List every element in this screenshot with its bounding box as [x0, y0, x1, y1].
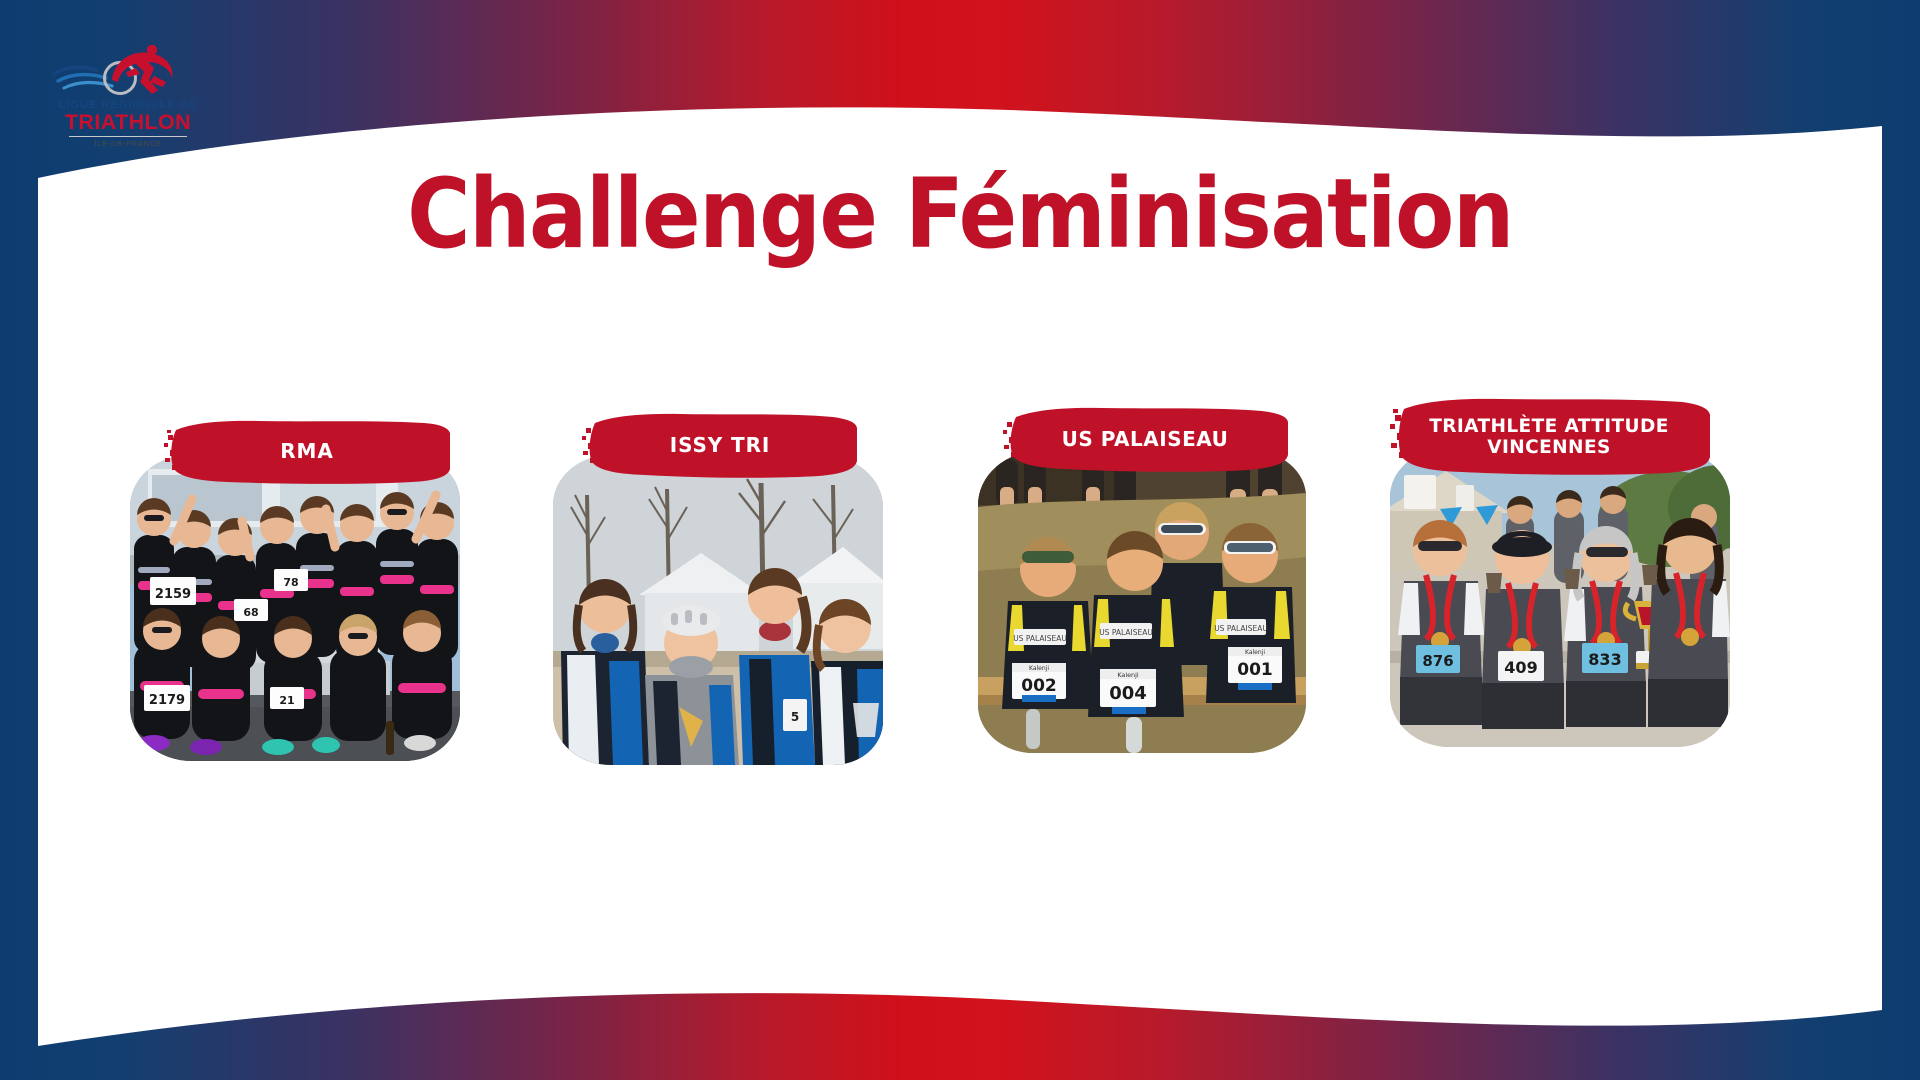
team-photo-triathlete-attitude-vincennes: 876 409 [1390, 449, 1730, 747]
team-name-label: TRIATHLÈTE ATTITUDE VINCENNES [1384, 395, 1714, 479]
team-photo-us-palaiseau: US PALAISEAU 002 Kalenji US PALAISEAU 0 [978, 451, 1306, 753]
wave-and-runner-logo-mark [48, 38, 208, 100]
team-name-banner-rma: RMA [162, 417, 452, 487]
svg-text:2159: 2159 [155, 587, 191, 602]
svg-text:Kalenji: Kalenji [1117, 671, 1139, 679]
team-photo-issy-tri: 5 [553, 455, 883, 765]
team-card-triathlete-attitude-vincennes[interactable]: 876 409 [1390, 401, 1782, 801]
team-name-banner-triathlete-attitude-vincennes: TRIATHLÈTE ATTITUDE VINCENNES [1384, 395, 1714, 479]
svg-text:5: 5 [791, 710, 799, 724]
svg-text:001: 001 [1237, 660, 1273, 680]
svg-text:876: 876 [1422, 652, 1453, 670]
svg-text:409: 409 [1504, 658, 1537, 677]
team-name-label: RMA [162, 417, 452, 487]
team-card-issy-tri[interactable]: 5 [553, 411, 945, 811]
svg-text:US PALAISEAU: US PALAISEAU [1214, 624, 1268, 633]
team-name-banner-us-palaiseau: US PALAISEAU [1000, 405, 1290, 475]
team-name-label: ISSY TRI [581, 411, 859, 481]
svg-text:US PALAISEAU: US PALAISEAU [1013, 634, 1067, 643]
team-photo-rma: 2179 2159 68 78 21 [130, 455, 460, 761]
svg-text:78: 78 [283, 576, 298, 589]
logo-line-ile-de-france: ÎLE-DE-FRANCE [48, 140, 208, 148]
team-card-row: 2179 2159 68 78 21 [0, 395, 1920, 815]
page-title: Challenge Féminisation [0, 166, 1920, 262]
league-logo: LIGUE RÉGIONALE DE TRIATHLON ÎLE-DE-FRAN… [48, 38, 208, 148]
svg-text:21: 21 [279, 694, 294, 707]
team-card-rma[interactable]: 2179 2159 68 78 21 [130, 417, 522, 817]
svg-text:002: 002 [1021, 676, 1057, 696]
svg-text:Kalenji: Kalenji [1029, 665, 1049, 672]
svg-text:004: 004 [1109, 683, 1147, 704]
svg-text:833: 833 [1588, 650, 1621, 669]
svg-text:68: 68 [243, 606, 258, 619]
team-card-us-palaiseau[interactable]: US PALAISEAU 002 Kalenji US PALAISEAU 0 [978, 405, 1370, 805]
logo-divider [69, 136, 187, 137]
logo-line-triathlon: TRIATHLON [48, 112, 208, 134]
svg-text:US PALAISEAU: US PALAISEAU [1099, 628, 1153, 637]
team-name-label: US PALAISEAU [1000, 405, 1290, 475]
team-name-banner-issy-tri: ISSY TRI [581, 411, 859, 481]
svg-text:2179: 2179 [149, 693, 185, 708]
svg-text:Kalenji: Kalenji [1245, 649, 1265, 656]
